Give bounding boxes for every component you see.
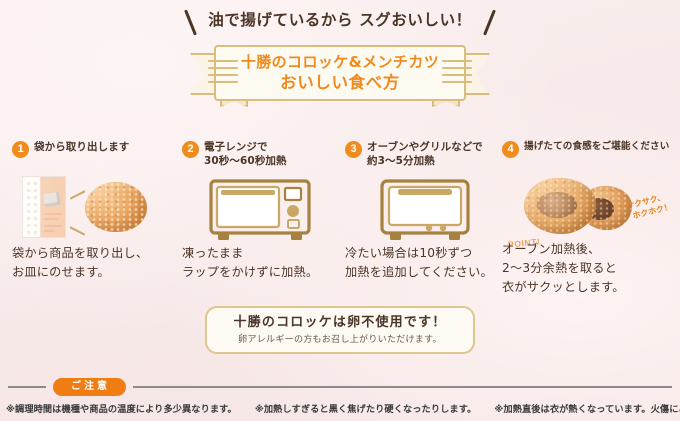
package-text-line [44, 213, 62, 215]
caution-note: ※調理時間は機種や商品の温度により多少異なります。 [6, 403, 237, 416]
caution-note: ※加熱直後は衣が熱くなっています。火傷にご注意ください。 [494, 403, 680, 416]
caution-header: ご注意 [0, 378, 680, 396]
menchikatsu-front-filling [537, 192, 577, 218]
step-1-number: 1 [12, 141, 29, 158]
caution-section: ご注意 ※調理時間は機種や商品の温度により多少異なります。 ※加熱しすぎると黒く… [0, 378, 680, 416]
step-4-description: オーブン加熱後、 2〜3分余熱を取ると 衣がサクッとします。 [502, 240, 625, 297]
slash-right-icon [483, 9, 496, 35]
step-1-visual [12, 174, 177, 246]
package-text-line [44, 230, 55, 232]
caution-rule-right [133, 386, 672, 388]
egg-free-headline: 十勝のコロッケは卵不使用です！ [233, 314, 446, 332]
croquette-photo [85, 182, 147, 232]
step-4: 4 揚げたての食感をご堪能ください サクサク、 ホクホク！ POINT! [502, 140, 674, 290]
step-1: 1 袋から取り出します 袋から商品を取り出し、 お皿にのせます。 [12, 140, 177, 290]
arrow-tick-lower [70, 226, 86, 235]
step-3: 3 オーブンやグリルなどで 約3〜5分加熱 冷たい場合は10秒ずつ [345, 140, 510, 290]
arrow-tick-upper [70, 190, 86, 199]
step-3-visual [345, 174, 510, 246]
package-text-line [44, 218, 58, 220]
slash-left-icon [184, 9, 197, 35]
caution-notes-list: ※調理時間は機種や商品の温度により多少異なります。 ※加熱しすぎると黒く焦げたり… [0, 396, 680, 416]
catch-copy-wrapper: 油で揚げているから スグおいしい！ [0, 9, 680, 31]
step-2-number: 2 [182, 141, 199, 158]
step-3-title: オーブンやグリルなどで 約3〜5分加熱 [367, 140, 483, 168]
egg-free-notice-box: 十勝のコロッケは卵不使用です！ 卵アレルギーの方もお召し上がりいただけます。 [205, 306, 475, 354]
infographic-page: 油で揚げているから スグおいしい！ 十勝のコロッケ&メンチカツ おいしい食べ方 [0, 0, 680, 421]
steps-row: 1 袋から取り出します 袋から商品を取り出し、 お皿にのせます。 [0, 140, 680, 290]
menchikatsu-front-piece [524, 178, 596, 234]
step-4-head: 4 揚げたての食感をご堪能ください [502, 140, 674, 174]
package-dot-pattern [25, 180, 40, 236]
step-2: 2 電子レンジで 30秒〜60秒加熱 凍っ [182, 140, 347, 290]
step-1-description: 袋から商品を取り出し、 お皿にのせます。 [12, 244, 148, 282]
package-photo-thumb [43, 192, 61, 207]
step-2-title: 電子レンジで 30秒〜60秒加熱 [204, 140, 287, 168]
egg-free-subtext: 卵アレルギーの方もお召し上がりいただけます。 [238, 333, 442, 347]
ribbon-body: 十勝のコロッケ&メンチカツ おいしい食べ方 [214, 45, 466, 101]
product-package-image [22, 176, 66, 238]
title-ribbon: 十勝のコロッケ&メンチカツ おいしい食べ方 [190, 45, 490, 103]
ribbon-title-line2: おいしい食べ方 [280, 72, 400, 93]
microwave-icon [208, 178, 312, 249]
oven-toaster-icon [379, 178, 471, 249]
package-text-line [44, 225, 62, 227]
step-2-head: 2 電子レンジで 30秒〜60秒加熱 [182, 140, 347, 174]
step-1-head: 1 袋から取り出します [12, 140, 177, 174]
ribbon-stripes-right [442, 60, 472, 88]
step-3-number: 3 [345, 141, 362, 158]
catch-copy-text: 油で揚げているから スグおいしい！ [208, 9, 472, 31]
header: 油で揚げているから スグおいしい！ 十勝のコロッケ&メンチカツ おいしい食べ方 [0, 0, 680, 118]
step-2-description: 凍ったまま ラップをかけずに加熱。 [182, 244, 318, 282]
caution-rule-left [8, 386, 46, 388]
step-4-title: 揚げたての食感をご堪能ください [524, 140, 669, 154]
caution-note: ※加熱しすぎると黒く焦げたり硬くなったりします。 [255, 403, 477, 416]
ribbon-title-line1: 十勝のコロッケ&メンチカツ [241, 53, 439, 72]
caution-label-badge: ご注意 [53, 378, 126, 396]
step-1-title: 袋から取り出します [34, 140, 129, 154]
step-2-visual [182, 174, 347, 246]
ribbon-stripes-left [208, 60, 238, 88]
step-3-head: 3 オーブンやグリルなどで 約3〜5分加熱 [345, 140, 510, 174]
step-4-number: 4 [502, 141, 519, 158]
step-4-visual: サクサク、 ホクホク！ POINT! [502, 174, 674, 246]
step-3-description: 冷たい場合は10秒ずつ 加熱を追加してください。 [345, 244, 493, 282]
